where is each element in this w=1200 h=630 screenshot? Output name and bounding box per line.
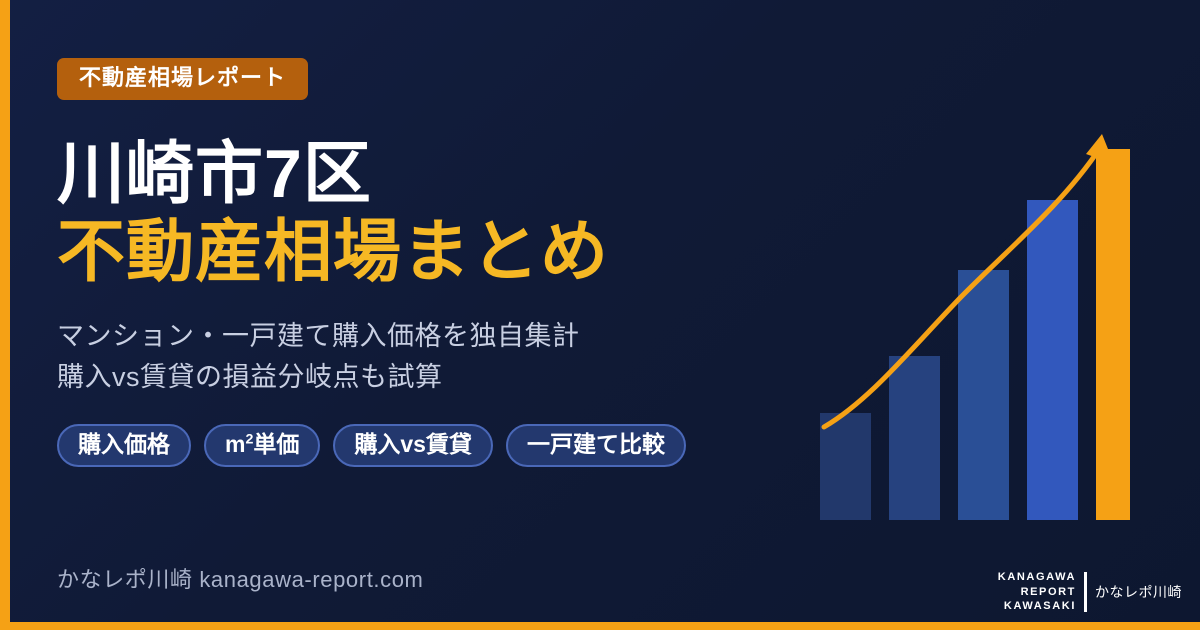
tag-unit-price[interactable]: m2単価 (204, 424, 320, 467)
report-badge: 不動産相場レポート (57, 58, 308, 100)
page-title: 川崎市7区 不動産相場まとめ (57, 136, 757, 290)
brand-logo-line-2: REPORT (998, 585, 1076, 600)
chart-bars (820, 149, 1130, 520)
tag-purchase-price[interactable]: 購入価格 (57, 424, 191, 467)
brand-logo: KANAGAWA REPORT KAWASAKI かなレポ川崎 (998, 570, 1182, 614)
subtitle-line-1: マンション・一戸建て購入価格を独自集計 (57, 316, 757, 357)
accent-bar-left (0, 0, 10, 630)
brand-logo-line-3: KAWASAKI (998, 599, 1076, 614)
subtitle-line-2: 購入vs賃貸の損益分岐点も試算 (57, 357, 757, 398)
title-line-1: 川崎市7区 (57, 136, 757, 212)
bar-3 (958, 270, 1009, 520)
subtitle: マンション・一戸建て購入価格を独自集計 購入vs賃貸の損益分岐点も試算 (57, 316, 757, 398)
social-card: 不動産相場レポート 川崎市7区 不動産相場まとめ マンション・一戸建て購入価格を… (0, 0, 1200, 630)
accent-bar-bottom (0, 622, 1200, 630)
footer-site-credit: かなレポ川崎 kanagawa-report.com (57, 562, 423, 594)
content-column: 不動産相場レポート 川崎市7区 不動産相場まとめ マンション・一戸建て購入価格を… (57, 58, 757, 467)
bar-5 (1096, 149, 1130, 520)
bar-4 (1027, 200, 1078, 520)
tag-unit-price-suffix: 単価 (253, 431, 299, 457)
brand-logo-divider (1084, 572, 1087, 612)
brand-logo-line-1: KANAGAWA (998, 570, 1076, 585)
tag-list: 購入価格 m2単価 購入vs賃貸 一戸建て比較 (57, 424, 757, 467)
brand-logo-en: KANAGAWA REPORT KAWASAKI (998, 570, 1076, 614)
chart-svg (800, 120, 1130, 530)
bar-1 (820, 413, 871, 520)
title-line-2: 不動産相場まとめ (57, 214, 757, 290)
tag-unit-price-prefix: m (225, 431, 245, 457)
bar-2 (889, 356, 940, 520)
brand-logo-jp: かなレポ川崎 (1095, 582, 1182, 602)
bar-chart-illustration (800, 120, 1130, 530)
tag-house-comparison[interactable]: 一戸建て比較 (506, 424, 686, 467)
tag-buy-vs-rent[interactable]: 購入vs賃貸 (333, 424, 493, 467)
